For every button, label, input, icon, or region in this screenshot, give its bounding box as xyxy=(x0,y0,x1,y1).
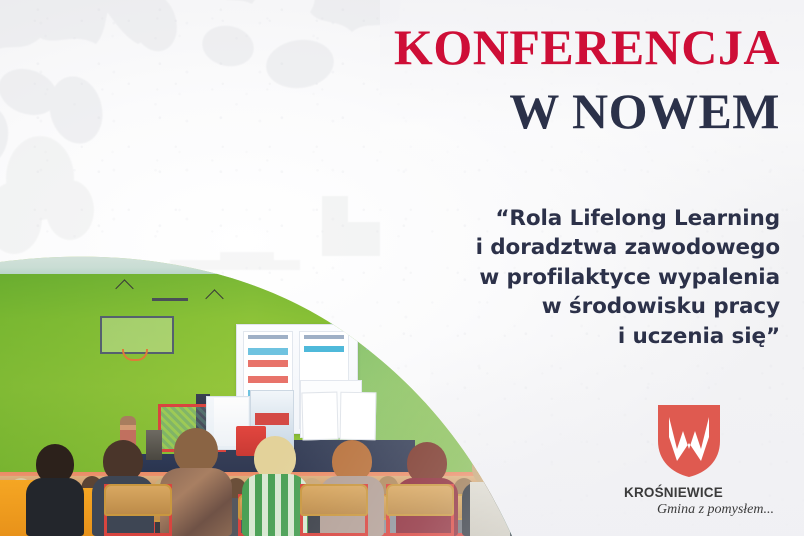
logo-municipality-name: KROŚNIEWICE xyxy=(616,485,780,500)
title-line-konferencja: KONFERENCJA xyxy=(310,22,780,72)
poster-subtitle: “Rola Lifelong Learning i doradztwa zawo… xyxy=(360,204,780,351)
subtitle-line-2: i doradztwa zawodowego xyxy=(360,233,780,262)
subtitle-line-1: “Rola Lifelong Learning xyxy=(360,204,780,233)
title-line-w-nowem: W NOWEM xyxy=(310,86,780,136)
conference-poster: KONFERENCJA W NOWEM “Rola Lifelong Learn… xyxy=(0,0,804,536)
subtitle-line-3: w profilaktyce wypalenia xyxy=(360,263,780,292)
shield-icon xyxy=(656,403,722,479)
coat-of-arms-shield xyxy=(616,403,780,479)
poster-title: KONFERENCJA W NOWEM xyxy=(310,22,780,136)
subtitle-line-4: w środowisku pracy xyxy=(360,292,780,321)
subtitle-line-5: i uczenia się” xyxy=(360,322,780,351)
krosniewice-logo: KROŚNIEWICE Gmina z pomysłem... xyxy=(616,403,780,518)
logo-tagline: Gmina z pomysłem... xyxy=(616,502,780,518)
